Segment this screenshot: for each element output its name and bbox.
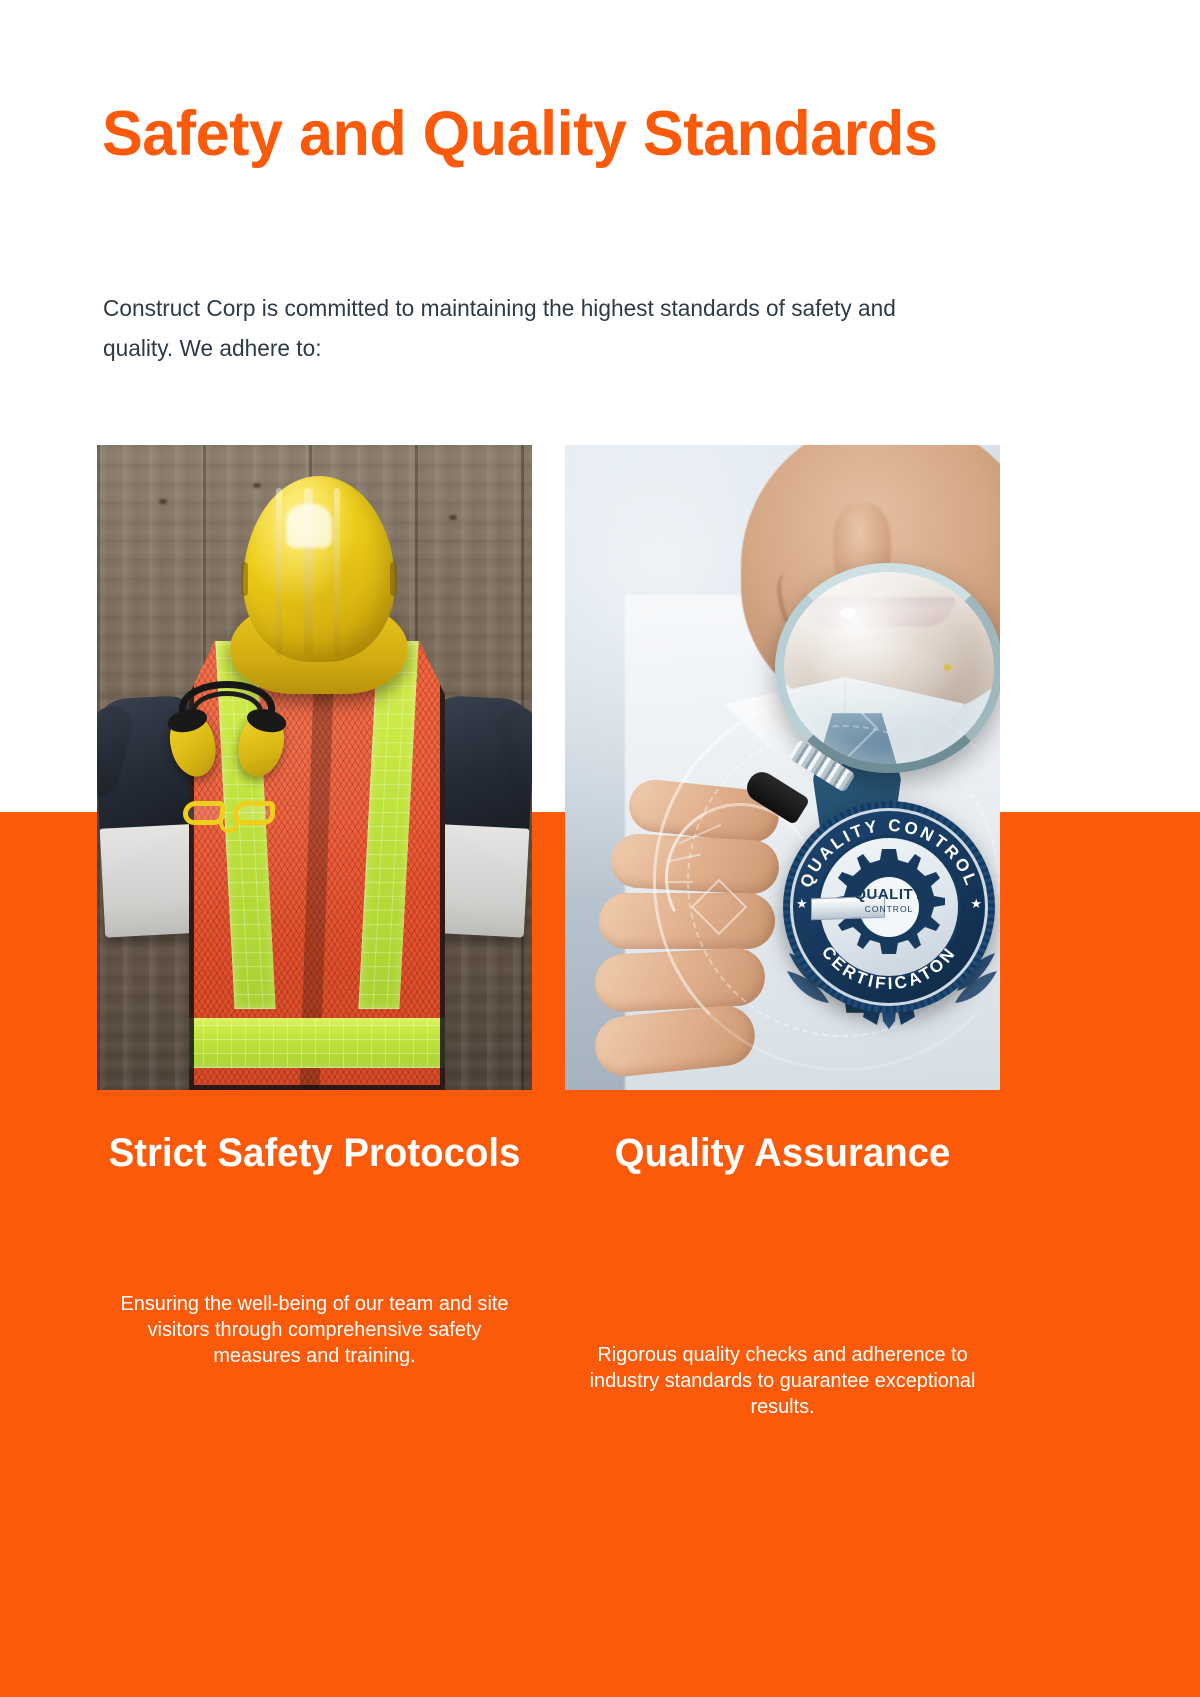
wood-knot-icon	[449, 515, 457, 520]
quality-assurance-photo: QUALITY CONTROL	[565, 445, 1000, 1090]
svg-text:CERTIFICATON: CERTIFICATON	[818, 943, 960, 994]
intro-paragraph: Construct Corp is committed to maintaini…	[103, 288, 952, 368]
quality-control-badge-icon: QUALITY CONTROL	[783, 801, 995, 1013]
card-body-strict-safety: Ensuring the well-being of our team and …	[104, 1291, 526, 1369]
poster-page: Safety and Quality Standards Construct C…	[0, 0, 1200, 1697]
card-body-quality-assurance: Rigorous quality checks and adherence to…	[572, 1342, 994, 1420]
wood-knot-icon	[159, 499, 167, 504]
hard-hat-icon	[230, 476, 408, 694]
card-quality-assurance: QUALITY CONTROL	[565, 445, 1000, 1420]
feature-cards: Strict Safety Protocols Ensuring the wel…	[0, 0, 1200, 1697]
badge-arc-bottom-text: CERTIFICATON	[783, 801, 995, 1013]
page-title: Safety and Quality Standards	[102, 95, 1072, 173]
card-heading-strict-safety: Strict Safety Protocols	[106, 1127, 524, 1179]
card-heading-quality-assurance: Quality Assurance	[574, 1127, 992, 1179]
safety-gear-photo	[97, 445, 532, 1090]
badge-arc-bottom-label: CERTIFICATON	[818, 943, 960, 994]
safety-goggles-icon	[183, 801, 275, 843]
ear-muffs-icon	[171, 695, 283, 787]
card-strict-safety: Strict Safety Protocols Ensuring the wel…	[97, 445, 532, 1369]
